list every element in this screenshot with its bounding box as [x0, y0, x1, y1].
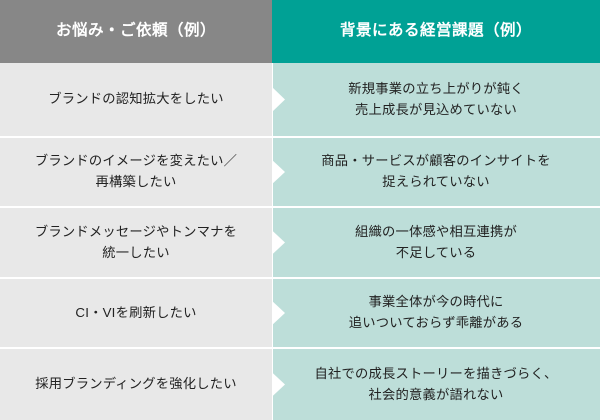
- issue-text-line: 社会的意義が語れない: [369, 385, 504, 406]
- concern-text-line: CI・VIを刷新したい: [75, 303, 196, 324]
- concern-cell: 採用ブランディングを強化したい: [0, 349, 272, 420]
- issue-text-line: 不足している: [396, 243, 477, 264]
- concern-text-line: 採用ブランディングを強化したい: [35, 374, 237, 395]
- issue-text-line: 組織の一体感や相互連携が: [355, 222, 517, 243]
- concern-cell: ブランドメッセージやトンマナを 統一したい: [0, 208, 272, 277]
- issues-comparison-table: お悩み・ご依頼（例） 背景にある経営課題（例） ブランドの認知拡大をしたい 新規…: [0, 0, 600, 420]
- table-header-row: お悩み・ご依頼（例） 背景にある経営課題（例）: [0, 0, 600, 63]
- table-body: ブランドの認知拡大をしたい 新規事業の立ち上がりが鈍く 売上成長が見込めていない…: [0, 63, 600, 420]
- header-cell-management-issues: 背景にある経営課題（例）: [272, 0, 600, 63]
- table-row: ブランドメッセージやトンマナを 統一したい 組織の一体感や相互連携が 不足してい…: [0, 206, 600, 277]
- issue-text-line: 商品・サービスが顧客のインサイトを: [321, 151, 550, 172]
- issue-text-line: 事業全体が今の時代に: [369, 292, 504, 313]
- issue-text-line: 捉えられていない: [382, 172, 490, 193]
- table-row: ブランドの認知拡大をしたい 新規事業の立ち上がりが鈍く 売上成長が見込めていない: [0, 63, 600, 136]
- header-label-concerns: お悩み・ご依頼（例）: [56, 22, 216, 41]
- issue-cell: 商品・サービスが顧客のインサイトを 捉えられていない: [272, 138, 600, 206]
- issue-cell: 組織の一体感や相互連携が 不足している: [272, 208, 600, 277]
- issue-cell: 新規事業の立ち上がりが鈍く 売上成長が見込めていない: [272, 63, 600, 136]
- concern-text-line: ブランドの認知拡大をしたい: [48, 89, 223, 110]
- concern-cell: ブランドの認知拡大をしたい: [0, 63, 272, 136]
- concern-cell: CI・VIを刷新したい: [0, 279, 272, 347]
- concern-text-line: ブランドのイメージを変えたい／: [35, 151, 237, 172]
- concern-text-line: 再構築したい: [96, 172, 177, 193]
- issue-text-line: 新規事業の立ち上がりが鈍く: [348, 79, 523, 100]
- issue-cell: 自社での成長ストーリーを描きづらく、 社会的意義が語れない: [272, 349, 600, 420]
- table-row: 採用ブランディングを強化したい 自社での成長ストーリーを描きづらく、 社会的意義…: [0, 347, 600, 420]
- issue-cell: 事業全体が今の時代に 追いついておらず乖離がある: [272, 279, 600, 347]
- issue-text-line: 自社での成長ストーリーを描きづらく、: [315, 364, 558, 385]
- concern-text-line: ブランドメッセージやトンマナを: [35, 222, 237, 243]
- issue-text-line: 売上成長が見込めていない: [355, 100, 517, 121]
- concern-cell: ブランドのイメージを変えたい／ 再構築したい: [0, 138, 272, 206]
- table-row: CI・VIを刷新したい 事業全体が今の時代に 追いついておらず乖離がある: [0, 277, 600, 347]
- header-cell-concerns: お悩み・ご依頼（例）: [0, 0, 272, 63]
- concern-text-line: 統一したい: [102, 243, 169, 264]
- header-label-management-issues: 背景にある経営課題（例）: [340, 22, 532, 41]
- table-row: ブランドのイメージを変えたい／ 再構築したい 商品・サービスが顧客のインサイトを…: [0, 136, 600, 206]
- issue-text-line: 追いついておらず乖離がある: [349, 313, 523, 334]
